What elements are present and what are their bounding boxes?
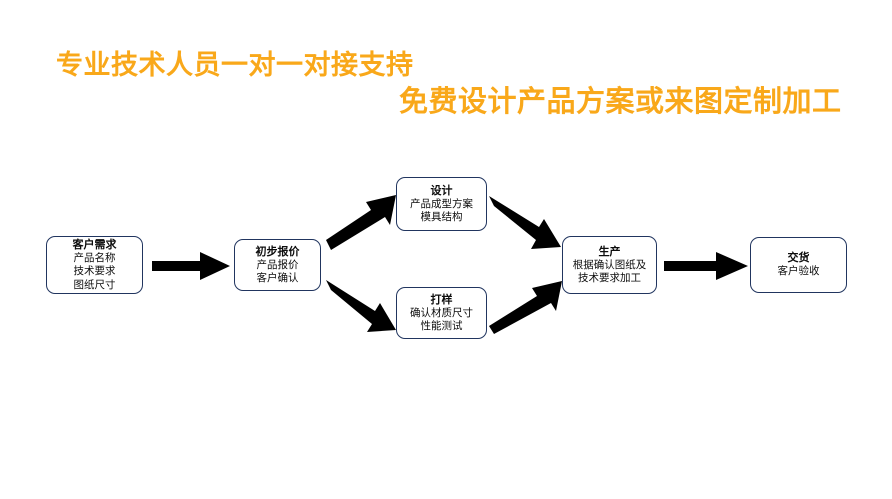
flow-box-line: 根据确认图纸及 [573,259,647,272]
flow-box-title: 客户需求 [73,238,117,252]
headline-secondary: 免费设计产品方案或来图定制加工 [399,88,842,117]
flow-box-title: 初步报价 [256,245,300,259]
headline-primary: 专业技术人员一对一对接支持 [56,52,414,79]
flow-box-line: 产品成型方案 [410,198,473,211]
flow-box-quotation[interactable]: 初步报价 产品报价 客户确认 [234,239,321,291]
arrow-down-right-icon [489,194,565,254]
flow-box-title: 交货 [788,251,810,265]
flow-box-sampling[interactable]: 打样 确认材质尺寸 性能测试 [396,287,487,339]
flow-box-line: 产品报价 [257,259,299,272]
flow-box-design[interactable]: 设计 产品成型方案 模具结构 [396,177,487,231]
flow-box-production[interactable]: 生产 根据确认图纸及 技术要求加工 [562,236,657,294]
flow-box-line: 确认材质尺寸 [410,307,473,320]
flow-box-line: 图纸尺寸 [74,279,116,292]
slide-canvas: 专业技术人员一对一对接支持 免费设计产品方案或来图定制加工 客户需求 产品名称 … [0,0,892,499]
arrow-up-right-icon [326,192,398,254]
flow-box-line: 技术要求加工 [578,272,641,285]
flow-box-requirement[interactable]: 客户需求 产品名称 技术要求 图纸尺寸 [46,236,143,294]
flow-box-line: 性能测试 [421,320,463,333]
flow-box-line: 技术要求 [74,265,116,278]
arrow-right-icon [664,250,748,282]
arrow-right-icon [152,250,230,282]
arrow-up-right-icon [489,276,565,336]
flow-box-delivery[interactable]: 交货 客户验收 [750,237,847,293]
flow-box-line: 产品名称 [74,252,116,265]
flow-box-title: 设计 [431,184,453,198]
flow-box-line: 模具结构 [421,211,463,224]
arrow-down-right-icon [326,276,398,338]
flow-box-title: 生产 [599,245,621,259]
flow-box-title: 打样 [431,293,453,307]
flow-box-line: 客户验收 [778,265,820,278]
flow-box-line: 客户确认 [257,272,299,285]
